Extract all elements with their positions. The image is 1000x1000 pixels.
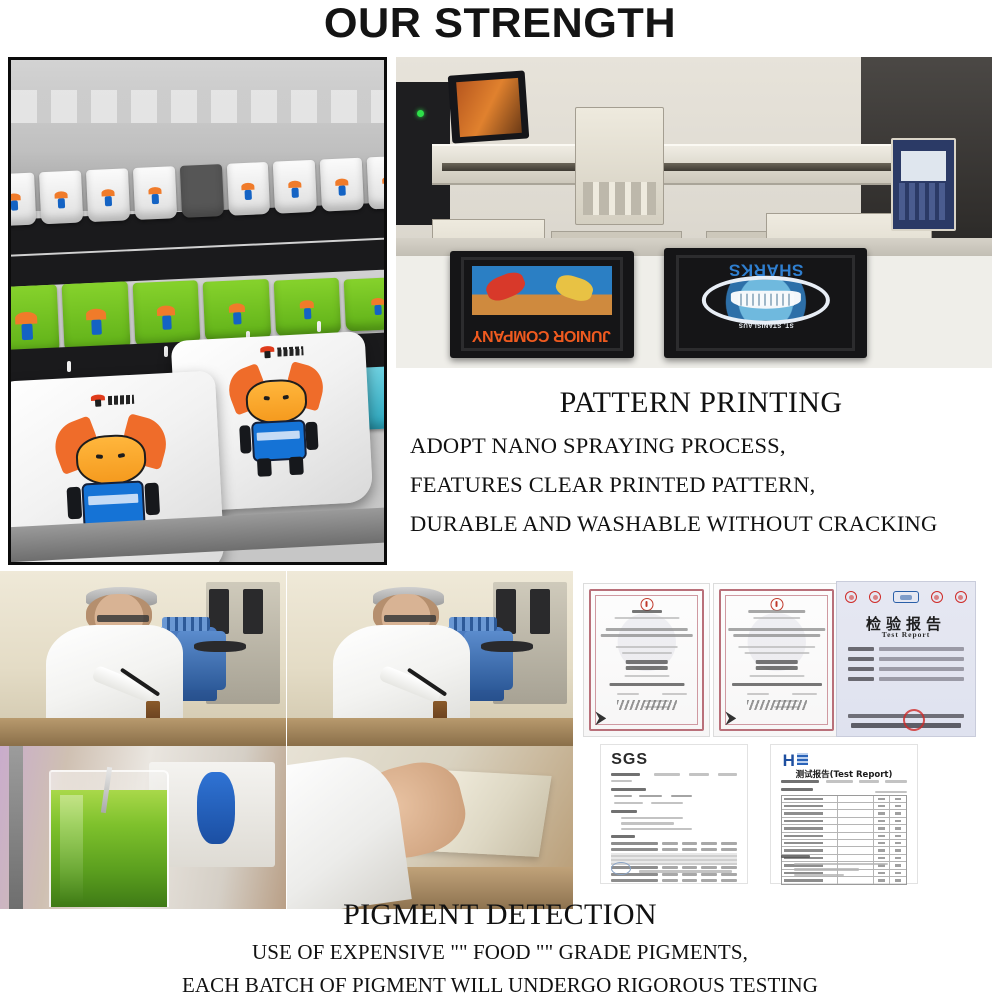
tee-white (8, 173, 36, 227)
bull-eye-left (264, 396, 271, 400)
infographic-page: OUR STRENGTH (0, 0, 1000, 1000)
green-pigment-liquid (51, 790, 167, 907)
control-panel-screen (901, 151, 945, 181)
pigment-detection-heading: PIGMENT DETECTION (0, 898, 1000, 932)
certificate-company-line (605, 628, 688, 631)
sgs-result-note (621, 817, 682, 820)
certificate-standard (625, 666, 668, 670)
table-row (782, 877, 906, 884)
sgs-sample-line (639, 795, 662, 798)
table-row (782, 825, 906, 832)
sgs-report-number (611, 773, 640, 776)
lab-bench (0, 718, 286, 746)
pigment-detection-line-2: EACH BATCH OF PIGMENT WILL UNDERGO RIGOR… (0, 973, 1000, 998)
certificate-standard (755, 660, 798, 664)
tee-green (273, 278, 341, 337)
lab-rack-arm (530, 589, 550, 635)
pattern-printing-text-block: PATTERN PRINTING ADOPT NANO SPRAYING PRO… (396, 386, 1000, 537)
page-title: OUR STRENGTH (0, 0, 1000, 46)
certificate-address-line (600, 634, 693, 637)
bull-eye-right (118, 453, 126, 458)
bull-eye-right (283, 395, 290, 400)
cmа-logo-icon (931, 591, 943, 603)
sgs-footer-line (639, 870, 732, 873)
lab-rack-arm (243, 589, 263, 635)
bull-head-icon (90, 395, 105, 408)
table-row (782, 847, 906, 854)
cable-bundle (194, 641, 245, 652)
table-row (782, 803, 906, 810)
brand-mark (260, 345, 304, 359)
tee-white (39, 171, 83, 225)
sgs-table-heading (611, 835, 634, 838)
bull-logo-icon (241, 183, 255, 201)
h-report-footnote (794, 874, 844, 877)
bull-logo-icon (299, 300, 314, 320)
bull-logo-icon (148, 187, 162, 205)
blue-mixer-unit-2 (464, 631, 513, 691)
safety-glasses (384, 615, 435, 622)
junior-company-text: JUNIOR COMPANY (464, 327, 619, 343)
official-red-stamp-icon (901, 707, 927, 733)
blue-equipment (197, 772, 234, 844)
belt-tab (67, 361, 71, 372)
cqc-logo-icon (845, 591, 857, 603)
certificate-scope-note (749, 675, 804, 677)
certificate-company-line (728, 628, 826, 631)
certificate-scope (609, 683, 684, 687)
test-report-row (848, 657, 964, 661)
certificate-seal-icon (640, 598, 653, 611)
operator-monitor (447, 70, 529, 144)
sgs-meta (654, 773, 680, 776)
test-report-row (848, 677, 964, 681)
certificate-subtitle (614, 617, 679, 619)
shark-jaw (730, 291, 800, 309)
photo-screen-printing-conveyor (8, 57, 387, 565)
table-row (782, 810, 906, 817)
sgs-result-note (621, 822, 674, 825)
bull-mascot-graphic (230, 364, 325, 478)
bull-arm-left (239, 425, 252, 454)
certificate-note (622, 652, 672, 654)
bull-arm-right (144, 483, 159, 516)
bull-arm-left (67, 487, 82, 520)
bull-logo-icon (288, 181, 302, 199)
sharks-text: SHARKS (693, 260, 839, 280)
certificate-seal-icon (770, 598, 783, 611)
table-row (611, 879, 737, 882)
black-shirt-sharks: ST. STANISLAUS SHARKS (664, 248, 867, 357)
printer-gantry-rail (432, 144, 956, 184)
glass-beaker (49, 770, 169, 907)
lab-stand-pole (9, 746, 23, 909)
h-report-meta (859, 780, 879, 783)
tee-white (132, 167, 176, 221)
certificate-scope (732, 683, 822, 687)
photo-green-pigment-beaker (0, 746, 286, 909)
document-iso-certificate-chinese (583, 583, 710, 737)
bull-logo-icon (157, 305, 176, 330)
pigment-detection-line-1: USE OF EXPENSIVE "" FOOD "" GRADE PIGMEN… (0, 940, 1000, 965)
sgs-meta (689, 773, 709, 776)
photo-lab-technician-left (0, 571, 286, 746)
bull-logo-icon (85, 308, 106, 335)
h-results-table (781, 795, 907, 886)
sample-vial (433, 701, 447, 720)
bull-logo-icon (335, 178, 349, 196)
sgs-logo: SGS (611, 751, 648, 769)
sgs-sample-line (614, 802, 643, 805)
bull-head (74, 434, 147, 487)
tee-white (226, 162, 270, 216)
document-iso-certificate-english (713, 583, 840, 737)
tee-white (273, 160, 317, 214)
sample-vial (146, 701, 160, 720)
safety-glasses (97, 615, 148, 622)
blue-mixer-unit-2 (177, 631, 226, 691)
table-row (782, 840, 906, 847)
h-report-unit-label (875, 791, 907, 794)
sgs-sample-line (614, 795, 632, 798)
certificate-signature (617, 700, 677, 710)
junior-company-artwork (472, 266, 612, 315)
h-report-footnote (794, 868, 858, 871)
document-h-test-report: H 测试报告(Test Report) (770, 744, 918, 884)
h-report-title: 测试报告(Test Report) (771, 768, 917, 780)
certificate-subline (753, 617, 801, 619)
bull-head-icon (260, 346, 275, 359)
certificate-signature (747, 700, 807, 710)
pigment-detection-text-block: PIGMENT DETECTION USE OF EXPENSIVE "" FO… (0, 898, 1000, 998)
table-row (611, 848, 737, 851)
pattern-printing-line-3: DURABLE AND WASHABLE WITHOUT CRACKING (396, 511, 1000, 537)
pattern-printing-line-1: ADOPT NANO SPRAYING PROCESS, (396, 433, 1000, 459)
brand-wordmark (107, 395, 133, 405)
brand-mark (90, 393, 134, 407)
certificate-title-en (748, 610, 806, 613)
sgs-results-heading (611, 810, 637, 813)
cable-bundle (481, 641, 532, 652)
bull-logo-icon (54, 191, 68, 209)
belt-tab (164, 346, 168, 357)
pattern-printing-line-2: FEATURES CLEAR PRINTED PATTERN, (396, 472, 1000, 498)
sgs-section-heading (611, 788, 646, 791)
certificate-note (744, 652, 809, 654)
tee-white (320, 158, 364, 212)
printer-control-panel[interactable] (891, 138, 957, 231)
sharks-artwork: ST. STANISLAUS SHARKS (693, 261, 839, 329)
certificate-title-cn (632, 610, 662, 614)
h-report-section (781, 788, 813, 791)
h-report-footnote-heading (781, 855, 810, 858)
pattern-printing-heading: PATTERN PRINTING (396, 386, 1000, 420)
tee-green (343, 276, 387, 331)
tee-white (85, 169, 129, 223)
bull-logo-icon (14, 311, 37, 340)
certificate-scope-note (624, 675, 669, 677)
lab-bench (287, 718, 573, 746)
control-panel-keypad[interactable] (899, 183, 948, 221)
sgs-sample-line (671, 795, 691, 798)
certificate-standard (755, 666, 798, 670)
sgs-disclaimer-block (611, 853, 737, 865)
certificate-standard (625, 660, 668, 664)
table-row (782, 818, 906, 825)
bull-head (245, 378, 308, 425)
certificate-note (615, 646, 678, 648)
sgs-meta (718, 773, 737, 776)
test-report-row (848, 667, 964, 671)
certificate-note (738, 646, 816, 648)
photo-lab-technician-right (287, 571, 573, 746)
test-report-row (848, 647, 964, 651)
bull-logo-icon (382, 176, 387, 194)
h-report-number (781, 780, 819, 783)
bull-leg-left (257, 459, 272, 477)
document-sgs-test-report: SGS (600, 744, 748, 884)
document-inspection-test-report: 检验报告 Test Report (836, 581, 976, 737)
belt-tab (317, 321, 321, 332)
bull-logo-icon (228, 303, 245, 325)
tee-green (8, 284, 60, 355)
bull-logo-icon (370, 297, 384, 315)
photo-hand-fabric-sample (287, 746, 573, 909)
bull-arm-right (306, 421, 319, 450)
certification-logo-row (845, 591, 966, 603)
black-shirt-junior: JUNIOR COMPANY (450, 251, 635, 358)
h-report-meta (826, 780, 852, 783)
test-report-field-rows (848, 647, 964, 687)
bull-overalls (251, 420, 306, 462)
tee-green (202, 279, 270, 342)
h-report-meta (885, 780, 907, 783)
accreditation-logo-icon (893, 591, 919, 603)
table-row (611, 842, 737, 845)
tee-green (132, 280, 200, 347)
platen-empty (179, 164, 223, 218)
bull-eye-left (96, 454, 104, 459)
table-header-row (782, 796, 906, 803)
h-report-footnote (794, 863, 887, 866)
sgs-seal-icon (611, 862, 631, 875)
bull-logo-icon (101, 189, 115, 207)
carriage-vents (583, 182, 656, 215)
bull-logo-icon (8, 193, 21, 211)
sgs-result-note (621, 828, 691, 831)
printhead-carriage (575, 107, 664, 225)
sgs-sample-line (651, 802, 683, 805)
photo-black-printed-shirts: JUNIOR COMPANY ST. STANISLAUS SHARKS (396, 238, 992, 368)
certificate-address-line (733, 634, 821, 637)
bull-leg-right (289, 457, 304, 475)
ccc-logo-icon (869, 591, 881, 603)
cal-logo-icon (955, 591, 967, 603)
tee-white (367, 156, 387, 210)
sgs-meta (611, 780, 631, 783)
tee-green (62, 281, 130, 352)
brand-wordmark (277, 346, 303, 356)
table-row (782, 833, 906, 840)
test-report-title-en: Test Report (837, 630, 975, 639)
